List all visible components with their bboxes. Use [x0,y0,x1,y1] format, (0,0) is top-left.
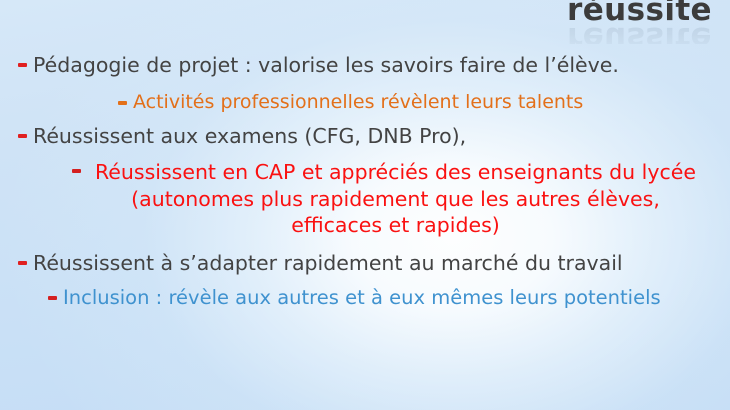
bullet-item-marche-travail: Réussissent à s’adapter rapidement au ma… [0,250,730,277]
bullet-dash-icon [18,52,29,67]
bullet-dash-icon [18,123,29,138]
bullet-text-activites: Activités professionnelles révèlent leur… [133,90,716,115]
spacer [0,241,730,250]
presentation-slide: SEMAINE_STAGE TRAVAIL AUTONOMISATE AUTOM… [0,0,730,410]
bullet-item-cap: Réussissent en CAP et appréciés des ense… [0,159,730,239]
bullet-text-marche-travail: Réussissent à s’adapter rapidement au ma… [33,250,716,277]
bullet-dash-icon [72,159,83,173]
bullet-text-examens: Réussissent aux examens (CFG, DNB Pro), [33,123,716,150]
bullet-item-examens: Réussissent aux examens (CFG, DNB Pro), [0,123,730,150]
spacer [0,152,730,159]
bullet-dash-icon [118,90,129,105]
bullet-text-cap: Réussissent en CAP et appréciés des ense… [87,159,704,239]
spacer [0,81,730,90]
slide-title-word: réussite [0,0,712,27]
spacer [0,116,730,123]
bullet-text-pedagogie: Pédagogie de projet : valorise les savoi… [33,52,716,79]
slide-title-band: SEMAINE_STAGE TRAVAIL AUTONOMISATE AUTOM… [0,0,730,44]
slide-title: SEMAINE_STAGE TRAVAIL AUTONOMISATE AUTOM… [0,0,712,27]
bullet-item-pedagogie: Pédagogie de projet : valorise les savoi… [0,52,730,79]
bullet-item-inclusion: Inclusion : révèle aux autres et à eux m… [0,285,730,310]
bullet-dash-icon [18,250,29,265]
bullet-dash-icon [48,285,59,300]
bullet-text-inclusion: Inclusion : révèle aux autres et à eux m… [63,285,716,310]
bullet-item-activites: Activités professionnelles révèlent leur… [0,90,730,115]
slide-body: Pédagogie de projet : valorise les savoi… [0,52,730,312]
slide-title-reflection: réussite [567,20,712,44]
